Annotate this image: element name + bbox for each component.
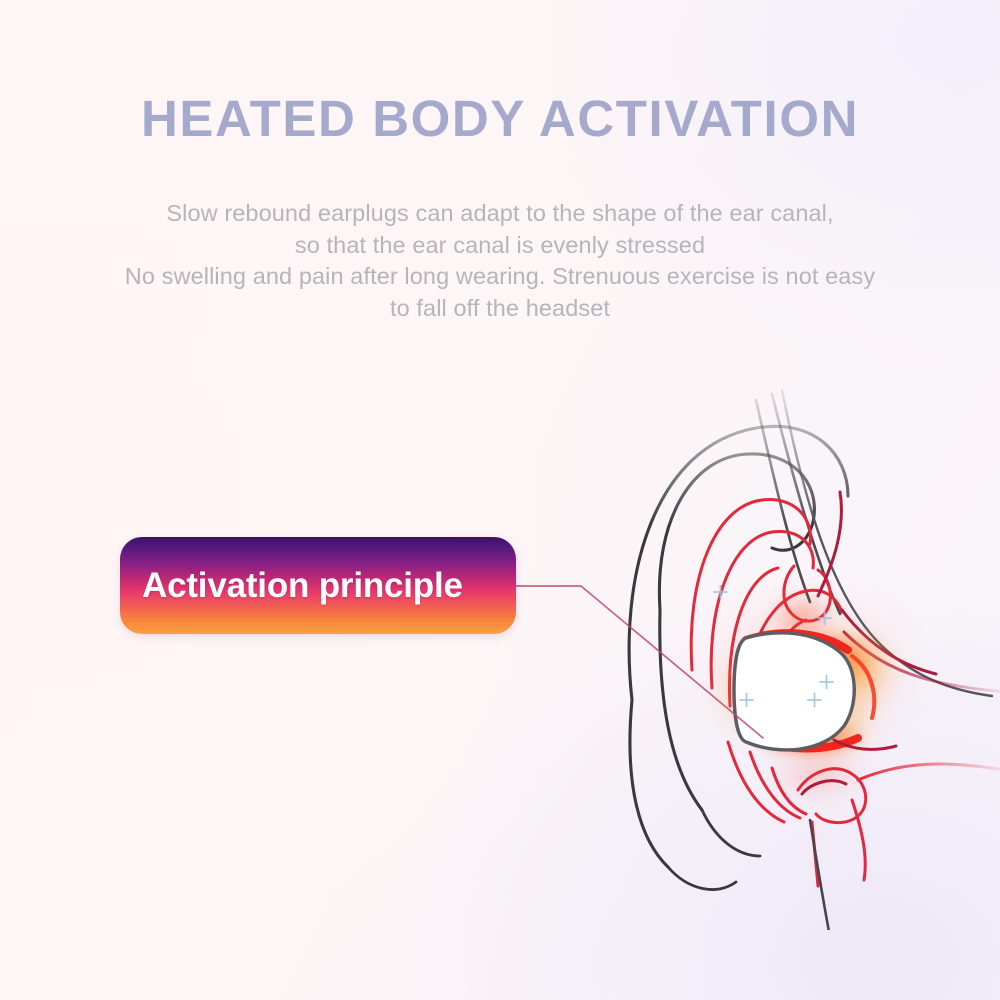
poster-canvas: HEATED BODY ACTIVATION Slow rebound earp… [0,0,1000,1000]
ear-lobe-dark-edge [668,810,760,889]
ear-cross-section-illustration [596,370,1000,930]
header-block: HEATED BODY ACTIVATION Slow rebound earp… [0,92,1000,146]
ear-neck-line [810,820,832,930]
subtitle-line-3: No swelling and pain after long wearing.… [0,261,1000,293]
marker-plus-1 [714,586,727,599]
page-title: HEATED BODY ACTIVATION [0,92,1000,146]
subtitle-line-1: Slow rebound earplugs can adapt to the s… [0,198,1000,230]
subtitle-line-2: so that the ear canal is evenly stressed [0,230,1000,262]
activation-principle-badge[interactable]: Activation principle [120,537,516,634]
ear-lower-anatomy [728,742,1000,886]
subtitle-block: Slow rebound earplugs can adapt to the s… [0,198,1000,324]
subtitle-line-4: to fall off the headset [0,293,1000,325]
activation-principle-label: Activation principle [120,566,463,606]
earplug-shape [734,633,854,750]
